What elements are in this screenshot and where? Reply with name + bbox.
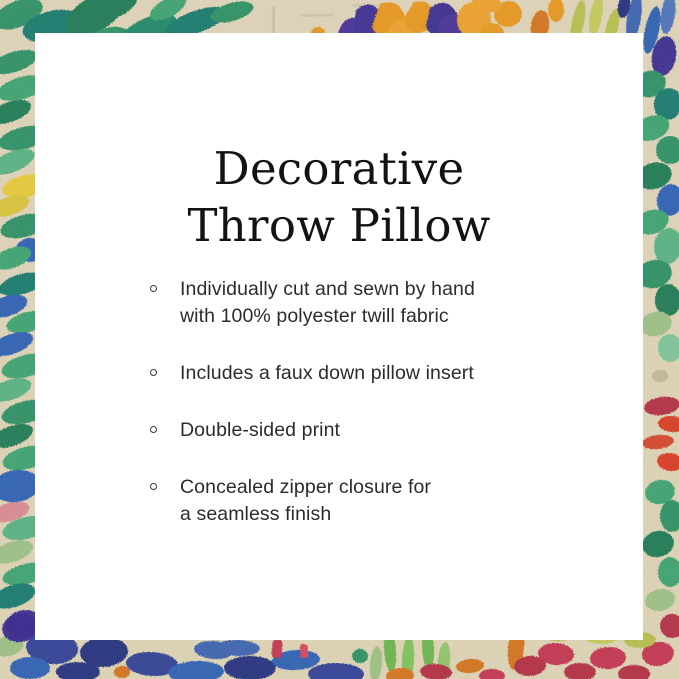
hollow-circle-bullet-icon bbox=[150, 426, 157, 433]
list-item: Individually cut and sewn by hand with 1… bbox=[148, 276, 623, 330]
list-item: Concealed zipper closure for a seamless … bbox=[148, 474, 623, 528]
feature-text: Individually cut and sewn by hand with 1… bbox=[180, 276, 623, 330]
feature-list: Individually cut and sewn by hand with 1… bbox=[148, 276, 623, 528]
title-line-1: Decorative bbox=[35, 140, 643, 197]
product-feature-card-screenshot: Decorative Throw Pillow Individually cut… bbox=[0, 0, 679, 679]
product-info-card: Decorative Throw Pillow Individually cut… bbox=[35, 33, 643, 640]
hollow-circle-bullet-icon bbox=[150, 483, 157, 490]
feature-text: Double-sided print bbox=[180, 417, 623, 444]
list-item: Double-sided print bbox=[148, 417, 623, 444]
feature-text: Concealed zipper closure for a seamless … bbox=[180, 474, 623, 528]
title-line-2: Throw Pillow bbox=[35, 197, 643, 254]
hollow-circle-bullet-icon bbox=[150, 285, 157, 292]
feature-text: Includes a faux down pillow insert bbox=[180, 360, 623, 387]
page-title: Decorative Throw Pillow bbox=[35, 140, 643, 254]
card-content: Decorative Throw Pillow Individually cut… bbox=[35, 33, 643, 640]
list-item: Includes a faux down pillow insert bbox=[148, 360, 623, 387]
hollow-circle-bullet-icon bbox=[150, 369, 157, 376]
